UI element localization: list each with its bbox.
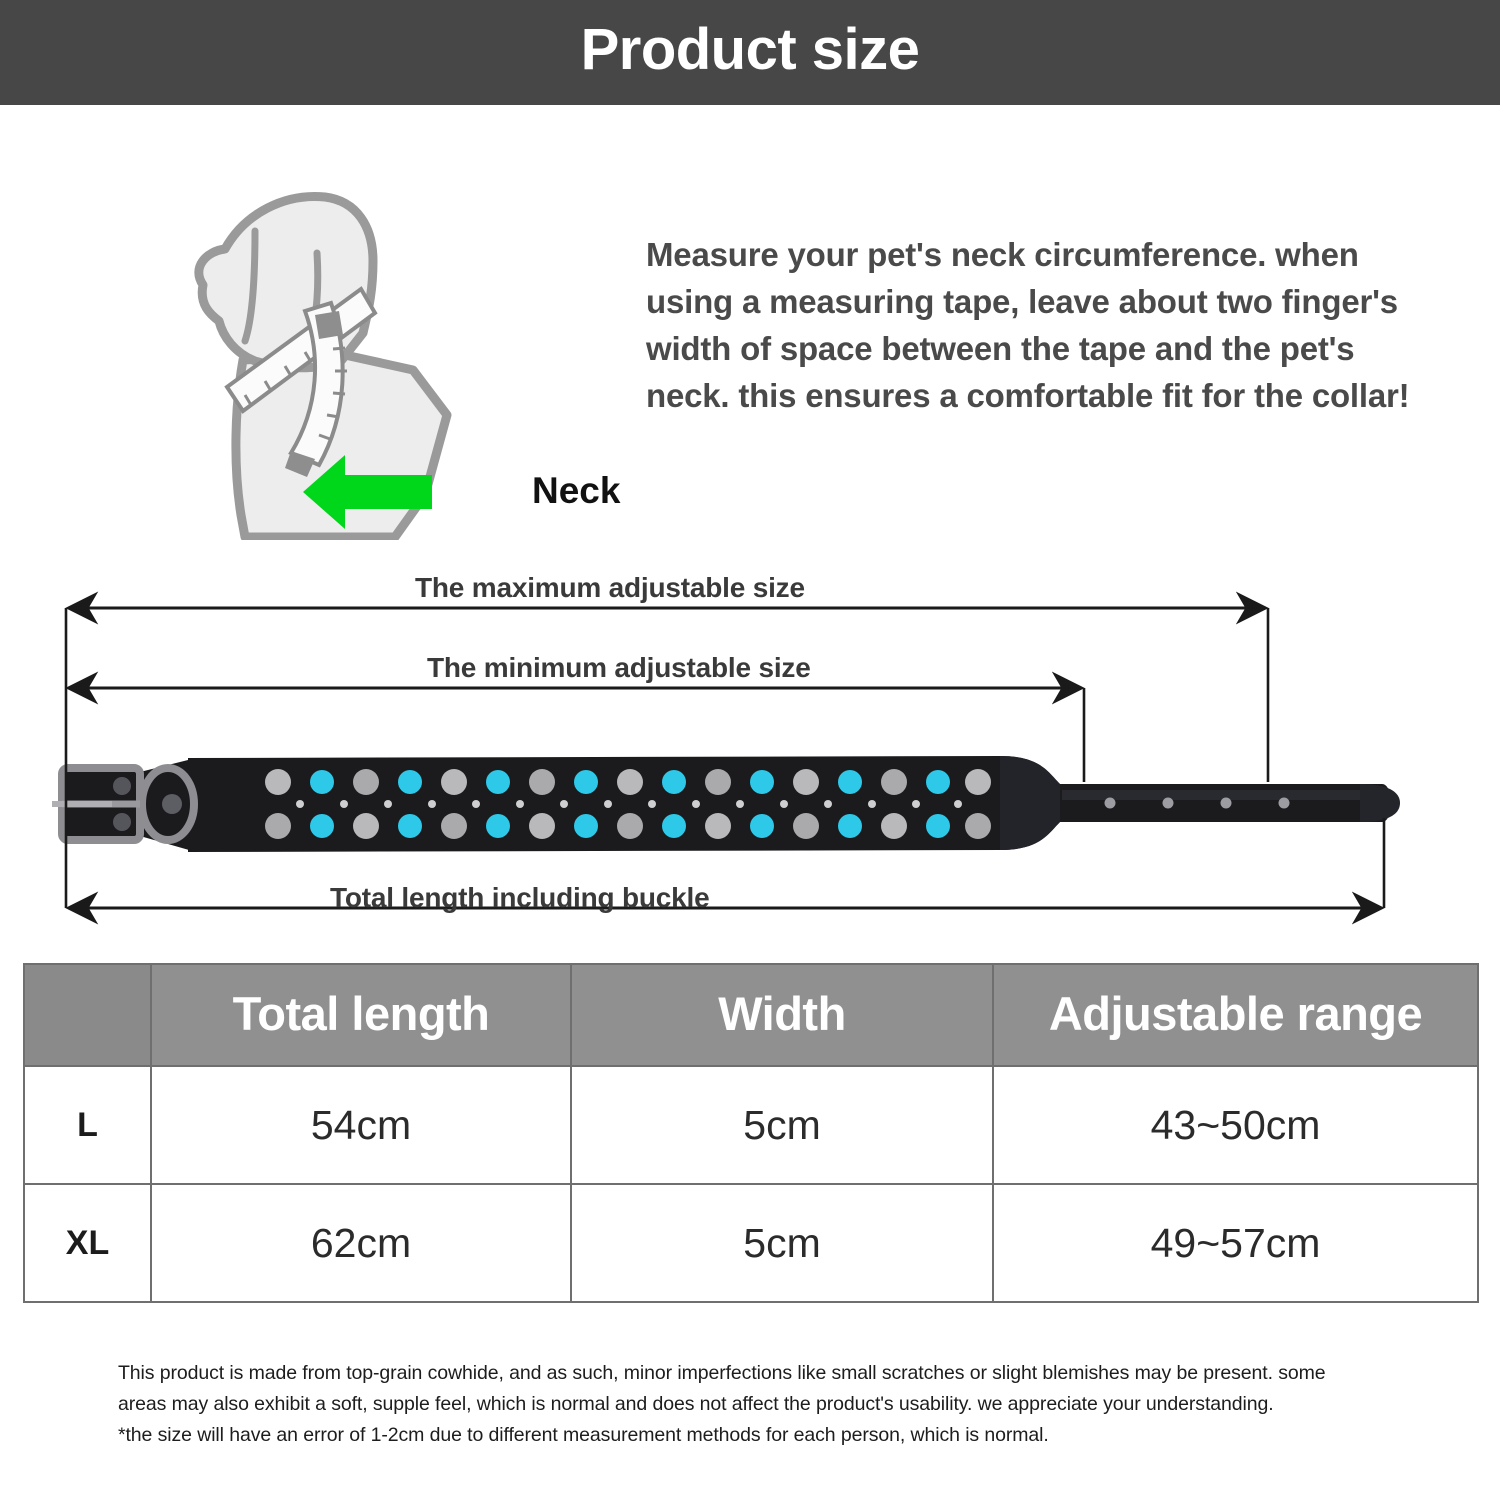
table-header-row: Total length Width Adjustable range	[24, 964, 1478, 1066]
dog-head-measurement-figure: Neck	[95, 165, 565, 540]
cell-size: L	[24, 1066, 151, 1184]
cell-total-length: 54cm	[151, 1066, 571, 1184]
table-header-adjustable-range: Adjustable range	[993, 964, 1478, 1066]
collar-dimension-diagram: The maximum adjustable size The minimum …	[0, 560, 1500, 955]
table-row: L 54cm 5cm 43~50cm	[24, 1066, 1478, 1184]
table-header-total-length: Total length	[151, 964, 571, 1066]
max-adjustable-size-label: The maximum adjustable size	[415, 574, 805, 602]
neck-label: Neck	[532, 472, 620, 509]
page-title: Product size	[0, 0, 1500, 105]
total-length-label: Total length including buckle	[330, 884, 709, 912]
header-bar: Product size	[0, 0, 1500, 105]
product-disclaimer: This product is made from top-grain cowh…	[118, 1358, 1413, 1450]
cell-size: XL	[24, 1184, 151, 1302]
dog-head-with-measuring-tape-icon	[95, 165, 565, 540]
min-adjustable-size-label: The minimum adjustable size	[427, 654, 811, 682]
collar-illustration	[52, 756, 1400, 852]
cell-width: 5cm	[571, 1066, 993, 1184]
cell-adjustable-range: 43~50cm	[993, 1066, 1478, 1184]
table-row: XL 62cm 5cm 49~57cm	[24, 1184, 1478, 1302]
cell-adjustable-range: 49~57cm	[993, 1184, 1478, 1302]
collar-diagram-svg	[0, 560, 1500, 955]
cell-width: 5cm	[571, 1184, 993, 1302]
measurement-instructions: Measure your pet's neck circumference. w…	[646, 232, 1416, 419]
disclaimer-line-2: areas may also exhibit a soft, supple fe…	[118, 1389, 1413, 1420]
buckle-icon	[52, 758, 196, 852]
product-size-infographic: Product size	[0, 0, 1500, 1500]
size-specification-table: Total length Width Adjustable range L 54…	[23, 963, 1479, 1303]
table-header-size	[24, 964, 151, 1066]
table-header-width: Width	[571, 964, 993, 1066]
disclaimer-line-3: *the size will have an error of 1-2cm du…	[118, 1420, 1413, 1451]
disclaimer-line-1: This product is made from top-grain cowh…	[118, 1358, 1413, 1389]
cell-total-length: 62cm	[151, 1184, 571, 1302]
